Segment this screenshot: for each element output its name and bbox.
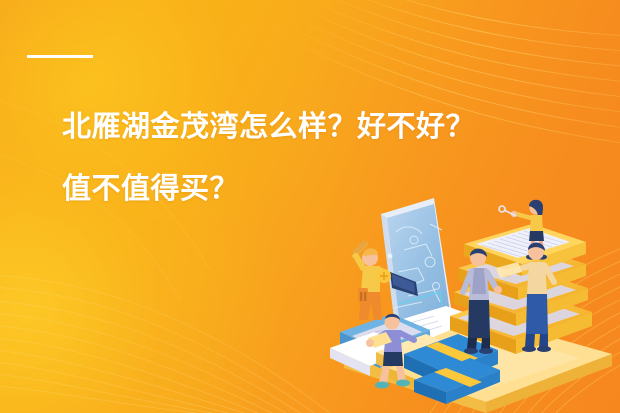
headline-line-1: 北雁湖金茂湾怎么样？好不好？ <box>62 96 562 158</box>
decorative-rule <box>27 55 93 58</box>
hero-illustration <box>330 196 620 413</box>
article-banner: 北雁湖金茂湾怎么样？好不好？ 值不值得买？ <box>0 0 620 413</box>
isometric-books-illustration <box>330 196 620 413</box>
deco-lines-bottom-left <box>0 274 330 413</box>
